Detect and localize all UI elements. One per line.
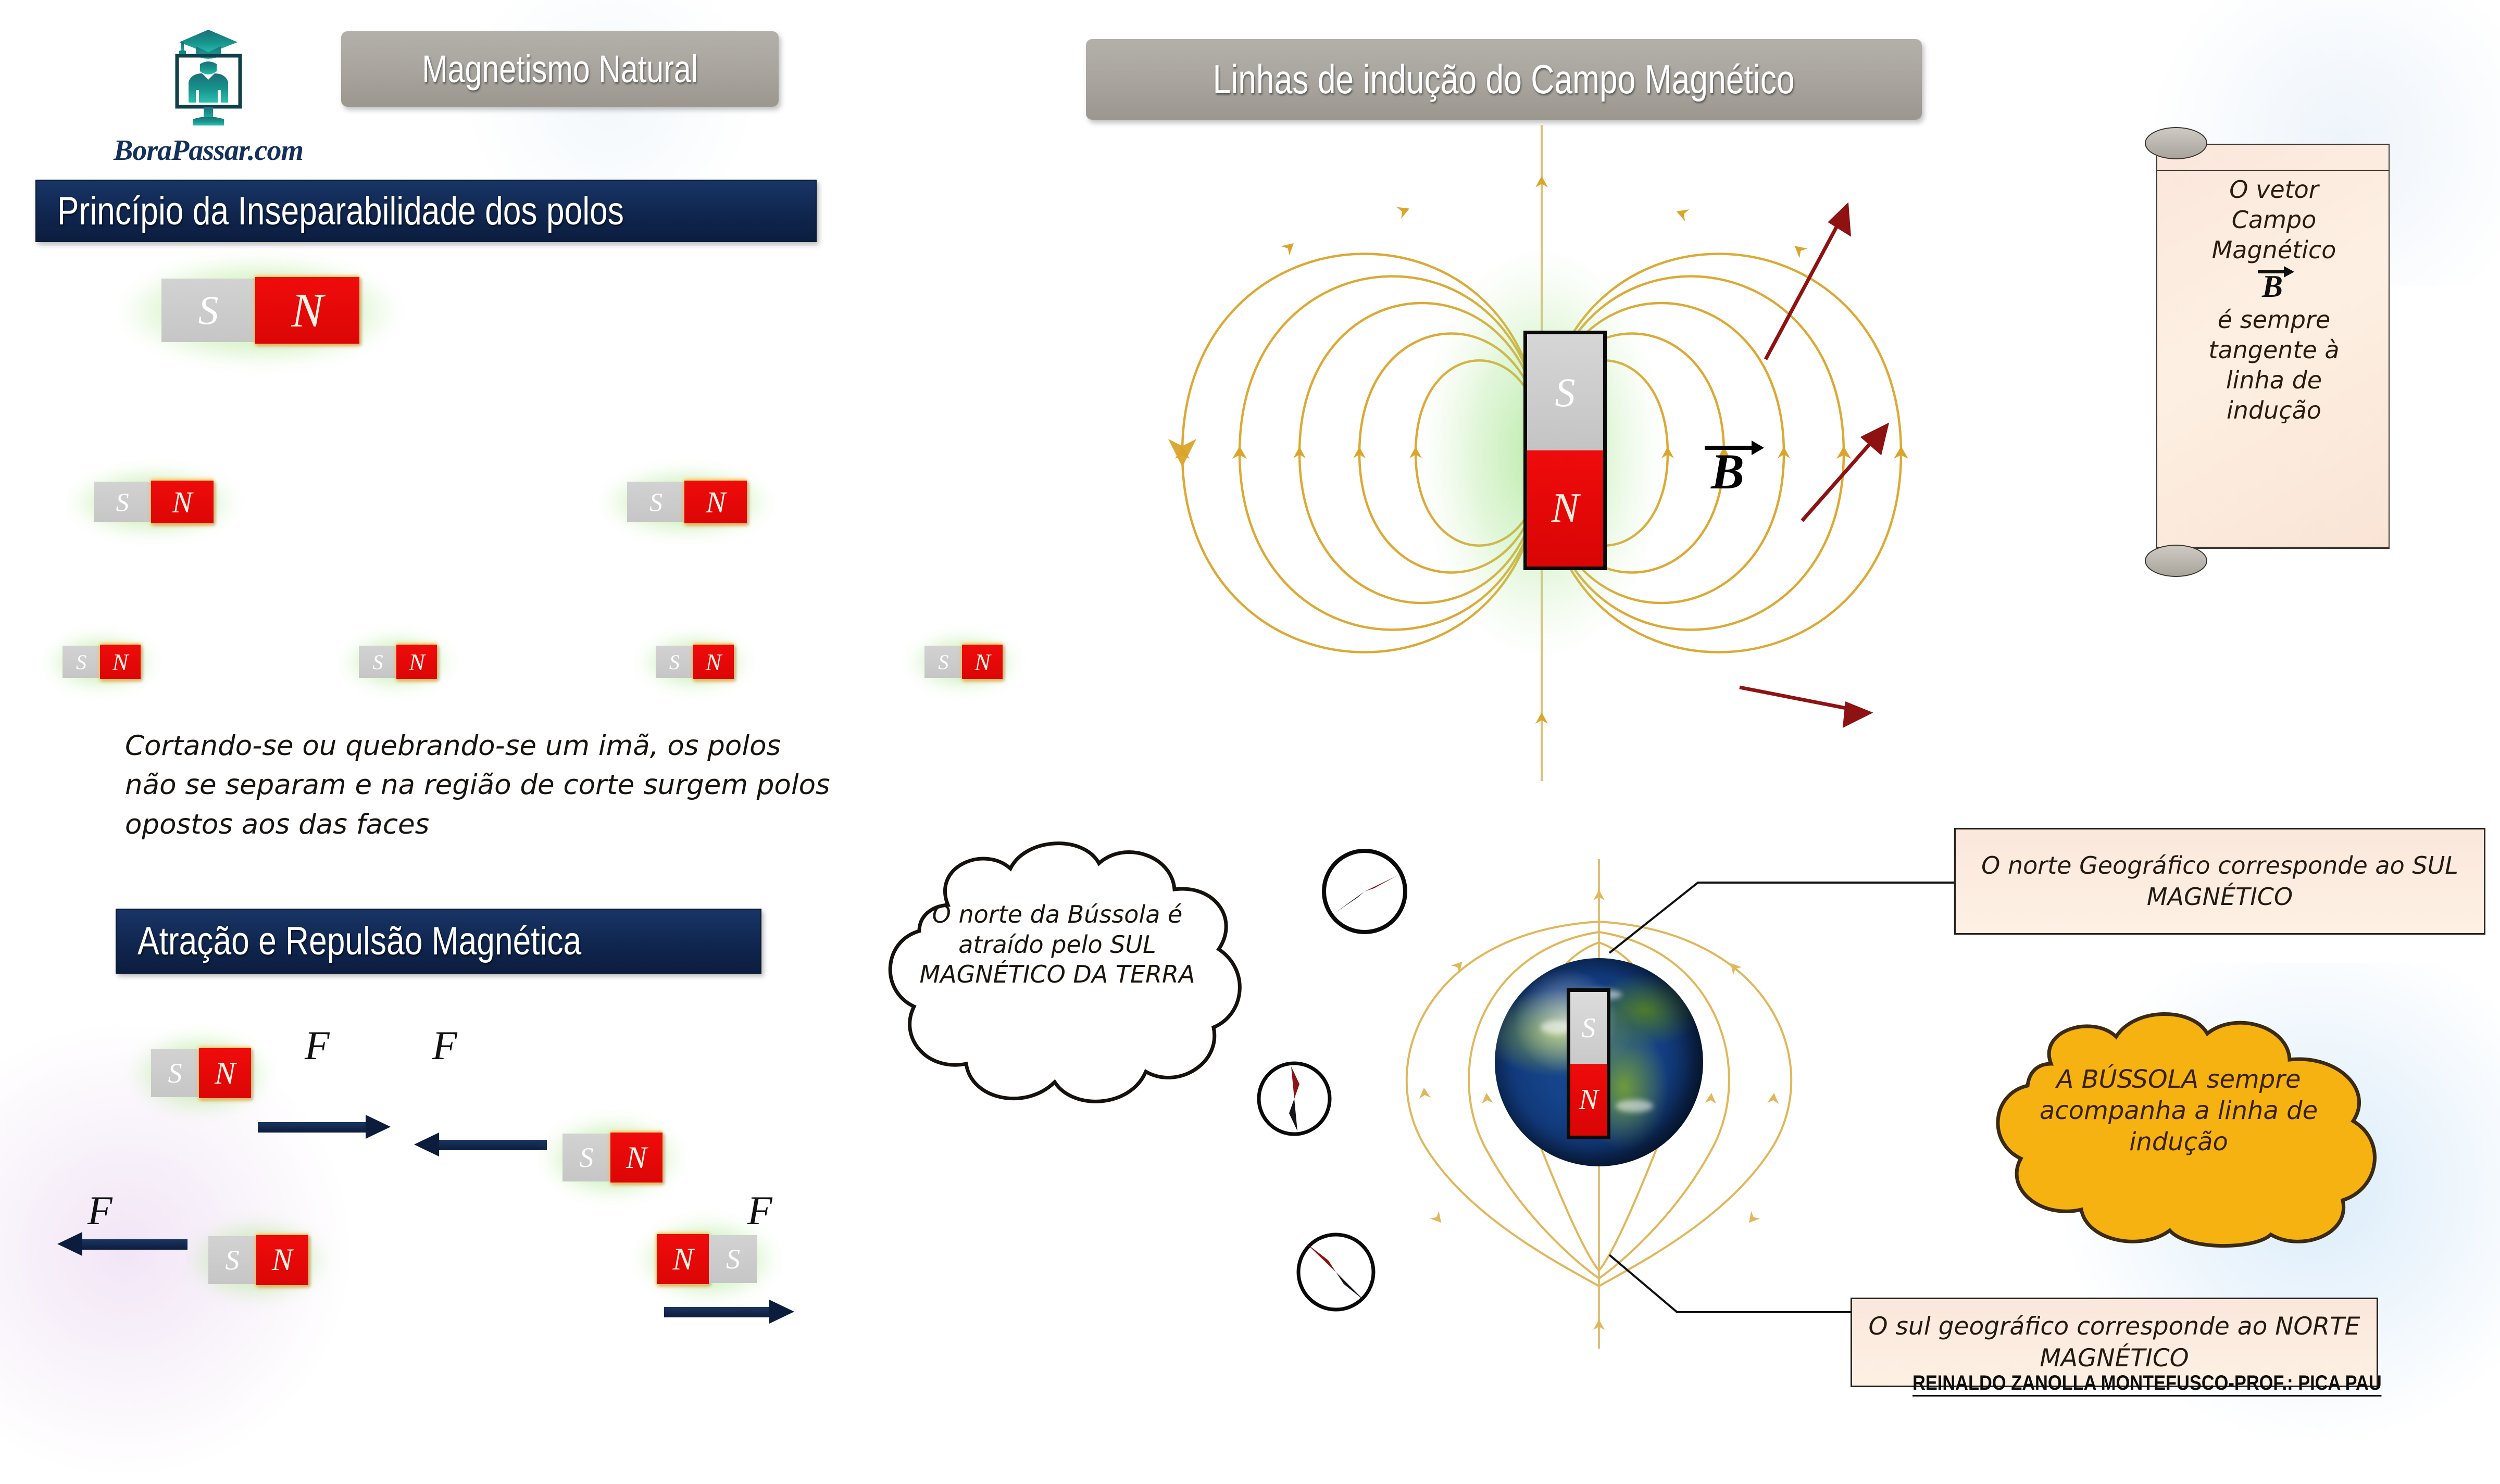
magnet-pole-north: N (684, 481, 747, 523)
magnet-medium-1: S N (94, 482, 214, 523)
scroll-line-7: indução (2166, 396, 2382, 426)
magnet-pole-south: S (161, 279, 255, 342)
magnet-pole-south: S (63, 646, 100, 678)
title-linhas-inducao-label: Linhas de indução do Campo Magnético (1213, 56, 1795, 103)
scroll-line-1: O vetor (2166, 175, 2382, 205)
force-arrow-far-left (57, 1235, 187, 1253)
attraction-magnet-left: S N (151, 1049, 251, 1098)
magnet-large: S N (161, 279, 359, 344)
magnet-pole-north: N (199, 1048, 251, 1098)
magnet-pole-south: S (924, 646, 962, 678)
callout-norte-geografico-text: O norte Geográfico corresponde ao SUL MA… (1956, 850, 2484, 913)
scroll-note-text: O vetor Campo Magnético B é sempre tange… (2166, 175, 2382, 426)
repulsion-row: F S N N S F (31, 1203, 802, 1297)
scroll-line-4: é sempre (2166, 305, 2382, 335)
scroll-line-5: tangente à (2166, 335, 2382, 366)
cloud-bussola-linha-text: A BÚSSOLA sempre acompanha a linha de in… (1999, 1064, 2358, 1158)
svg-text:B: B (2261, 269, 2283, 304)
magnet-pole-south: S (359, 646, 396, 678)
cloud-bussola-norte-text: O norte da Bússola é atraído pelo SUL MA… (896, 900, 1219, 990)
earth-magnet-pole-south: S (1570, 992, 1607, 1064)
magnet-row-large: S N (161, 279, 359, 344)
compass-middle-left[interactable] (1247, 1052, 1341, 1146)
magnet-pole-south: S (151, 1049, 199, 1097)
arrow-head-icon (414, 1133, 439, 1156)
scroll-line-2: Campo (2166, 205, 2382, 235)
earth-bar-magnet: S N (1567, 988, 1610, 1139)
b-vector-letter: B (1710, 444, 1744, 499)
magnet-pole-north: N (657, 1234, 709, 1284)
leader-line-north (1609, 883, 1979, 953)
cloud-bussola-norte: O norte da Bússola é atraído pelo SUL MA… (854, 827, 1260, 1129)
magnet-pole-north: N (255, 277, 359, 344)
brand-logo[interactable]: BoraPassar.com (99, 23, 318, 167)
magnet-small-4: S N (924, 646, 1003, 679)
banner-atracao-repulsao: Atração e Repulsão Magnética (116, 909, 761, 974)
title-magnetismo-natural: Magnetismo Natural (341, 31, 779, 107)
magnet-small-3: S N (656, 646, 734, 679)
magnet-pole-south: S (656, 646, 693, 678)
magnet-small-1: S N (63, 646, 141, 679)
banner-atracao-repulsao-label: Atração e Repulsão Magnética (137, 919, 581, 964)
bar-magnet-pole-north: N (1527, 450, 1603, 567)
magnet-pole-south: S (208, 1236, 256, 1284)
arrow-shaft (438, 1140, 547, 1150)
scroll-line-3: Magnético (2166, 235, 2382, 266)
banner-inseparabilidade-label: Princípio da Inseparabilidade dos polos (57, 188, 624, 234)
magnet-pole-south: S (94, 482, 151, 522)
bar-magnet-vertical: S N (1523, 331, 1607, 570)
banner-inseparabilidade: Princípio da Inseparabilidade dos polos (35, 180, 817, 242)
force-arrow-left (414, 1136, 547, 1153)
magnet-pole-south: S (562, 1134, 610, 1181)
compass-upper-left[interactable] (1312, 839, 1417, 944)
force-label-right: F (432, 1022, 457, 1069)
earth-magnetic-field-diagram: S N (1365, 854, 1802, 1354)
title-magnetismo-natural-label: Magnetismo Natural (422, 47, 698, 91)
bar-magnet-pole-south: S (1527, 334, 1603, 450)
scroll-line-6: linha de (2166, 366, 2382, 396)
repulsion-magnet-right: N S (657, 1235, 757, 1284)
cloud-bussola-linha: A BÚSSOLA sempre acompanha a linha de in… (1942, 1001, 2410, 1251)
magnet-pole-north: N (396, 645, 437, 679)
field-lines-svg (1016, 120, 2005, 791)
force-label-left: F (305, 1022, 330, 1069)
arrow-head-icon (366, 1115, 391, 1139)
magnet-small-2: S N (359, 646, 437, 679)
scroll-roll-top-icon (2145, 127, 2207, 159)
callout-norte-geografico: O norte Geográfico corresponde ao SUL MA… (1954, 828, 2485, 935)
magnet-pole-north: N (693, 645, 734, 679)
force-arrow-far-right (664, 1303, 794, 1320)
field-lines-diagram: S N B (1016, 120, 2005, 791)
magnet-pole-south: S (709, 1235, 757, 1283)
scroll-note: O vetor Campo Magnético B é sempre tange… (2145, 125, 2395, 578)
attraction-magnet-right: S N (562, 1134, 662, 1183)
magnet-pole-north: N (151, 481, 214, 523)
magnet-row-medium: S N S N (94, 482, 833, 523)
magnet-pole-north: N (962, 645, 1003, 679)
force-label-far-right: F (747, 1187, 772, 1234)
compass-lower-left[interactable] (1286, 1223, 1385, 1322)
magnet-pole-north: N (100, 645, 141, 679)
scroll-b-vector: B (2166, 262, 2382, 307)
arrow-shaft (258, 1122, 367, 1133)
footer-credit: REINALDO ZANOLLA MONTEFUSCO-PROF.: PICA … (1913, 1372, 2382, 1397)
arrow-head-icon (57, 1232, 82, 1256)
magnet-row-small: S N S N S N S N (63, 646, 823, 679)
magnet-pole-north: N (610, 1133, 662, 1183)
magnet-medium-2: S N (627, 482, 747, 523)
cloud-wisp (1616, 1100, 1653, 1112)
scroll-top-rule (2156, 170, 2390, 171)
brand-wordmark: BoraPassar.com (99, 134, 318, 167)
magnet-pole-south: S (627, 482, 684, 522)
b-vector-label: B (1695, 432, 1768, 497)
arrow-shaft (81, 1239, 187, 1250)
inseparability-caption: Cortando-se ou quebrando-se um imã, os p… (125, 726, 833, 844)
force-label-far-left: F (87, 1187, 113, 1234)
earth-magnet-pole-north: N (1570, 1064, 1607, 1136)
scroll-roll-bottom-icon (2145, 545, 2207, 577)
magnet-pole-north: N (256, 1235, 308, 1285)
attraction-row: S N F F S N (151, 1034, 797, 1127)
repulsion-magnet-left: S N (208, 1236, 308, 1285)
callout-sul-geografico-text: O sul geográfico corresponde ao NORTE MA… (1852, 1311, 2377, 1374)
title-linhas-inducao: Linhas de indução do Campo Magnético (1086, 39, 1922, 120)
force-arrow-right (258, 1118, 391, 1136)
graduation-monitor-icon (166, 23, 252, 133)
arrow-head-icon (769, 1300, 794, 1324)
arrow-shaft (664, 1307, 770, 1317)
